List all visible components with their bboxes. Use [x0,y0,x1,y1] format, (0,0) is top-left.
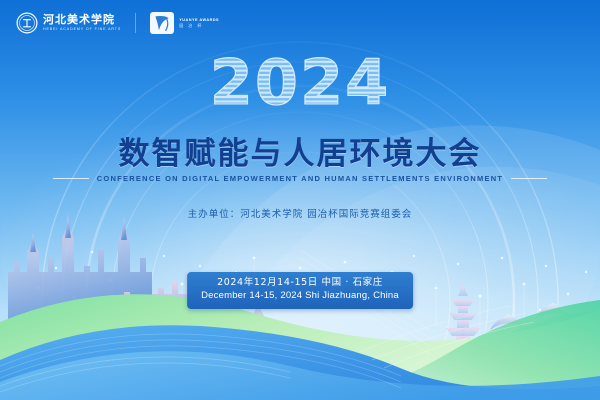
primary-logo[interactable]: 河北美术学院 HEBEI ACADEMY OF FINE ARTS [16,12,121,34]
date-text-en: December 14-15, 2024 Shi Jiazhuang, Chin… [201,290,399,303]
secondary-logo[interactable]: YUANYE AWARDS 园 冶 杯 [150,12,219,34]
subtitle-rule-right [511,178,547,179]
primary-logo-name-en: HEBEI ACADEMY OF FINE ARTS [43,28,121,32]
logo-bar: 河北美术学院 HEBEI ACADEMY OF FINE ARTS YUANYE… [16,12,219,34]
date-badge: 2024年12月14-15日 中国 · 石家庄 December 14-15, … [187,272,413,309]
yuanye-award-icon [150,12,174,34]
organizer-line: 主办单位：河北美术学院 园冶杯国际竞赛组委会 [0,206,600,220]
date-text-cn: 2024年12月14-15日 中国 · 石家庄 [201,277,399,290]
hero-year: 2024 [0,52,600,114]
subtitle-rule-left [53,178,89,179]
subtitle-row: CONFERENCE ON DIGITAL EMPOWERMENT AND HU… [0,174,600,183]
year-text: 2024 [210,52,391,114]
university-seal-icon [16,12,38,34]
primary-logo-name-cn: 河北美术学院 [43,15,121,26]
page-title: 数智赋能与人居环境大会 [0,128,600,173]
logo-divider [135,13,136,33]
conference-banner: 河北美术学院 HEBEI ACADEMY OF FINE ARTS YUANYE… [0,0,600,400]
secondary-logo-name-en: YUANYE AWARDS [179,18,219,23]
hero-content: 2024 数智赋能与人居环境大会 CONFERENCE ON DIGITAL E… [0,0,600,400]
subtitle-text: CONFERENCE ON DIGITAL EMPOWERMENT AND HU… [97,174,504,183]
secondary-logo-name-cn: 园 冶 杯 [179,23,219,28]
